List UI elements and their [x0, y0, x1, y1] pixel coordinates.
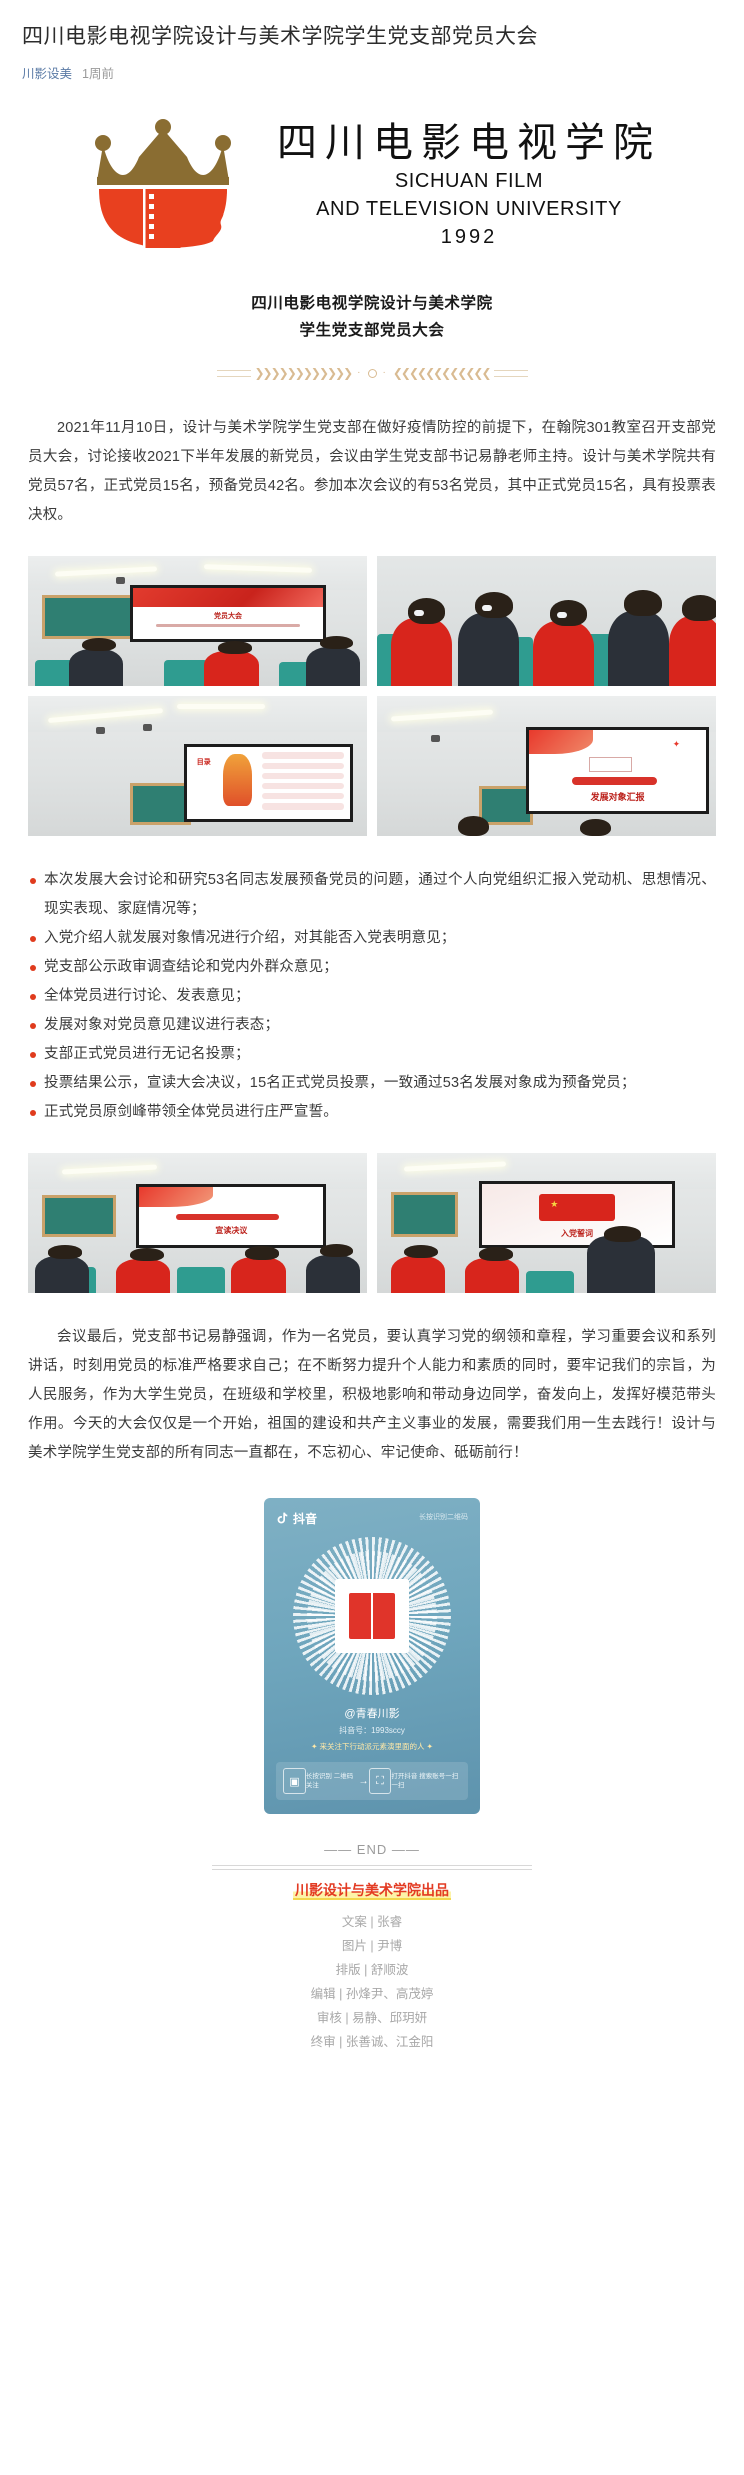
credits-block: 文案 | 张睿 图片 | 尹博 排版 | 舒顺波 编辑 | 孙烽尹、高茂婷 审核…	[0, 1910, 744, 2094]
qr-card-wrap: 抖音 长按识别二维码 @青春川影 抖音号：1993sccy ✦ 来关注下行动派元…	[0, 1498, 744, 1814]
page-title: 四川电影电视学院设计与美术学院学生党支部党员大会	[22, 22, 722, 52]
arrow-right-icon: →	[359, 1776, 369, 1787]
crown-shield-film-logo-icon	[83, 115, 243, 250]
photo-meeting-room-screen: 党员大会	[28, 556, 367, 686]
section-title-line2: 学生党支部党员大会	[0, 317, 744, 344]
logo-text-block: 四川电影电视学院 SICHUAN FILM AND TELEVISION UNI…	[277, 116, 661, 249]
article-meta: 川影设美1周前	[22, 65, 722, 83]
logo-founding-year: 1992	[277, 226, 661, 249]
credit-line: 文案 | 张睿	[0, 1910, 744, 1934]
qr-corner-note: 长按识别二维码	[419, 1512, 468, 1522]
qr-account-id: 抖音号：1993sccy	[276, 1725, 468, 1736]
section-title-line1: 四川电影电视学院设计与美术学院	[0, 290, 744, 317]
article-footer: —— END —— 川影设计与美术学院出品 文案 | 张睿 图片 | 尹博 排版…	[0, 1842, 744, 2094]
ornament-center-ring	[368, 369, 377, 378]
qr-foot-left-label: 长按识别 二维码关注	[306, 1772, 359, 1790]
logo-english-line1: SICHUAN FILM	[277, 168, 661, 194]
qr-decorative-ring	[293, 1537, 451, 1695]
qr-account-name: @青春川影	[276, 1705, 468, 1721]
article-page: 四川电影电视学院设计与美术学院学生党支部党员大会 川影设美1周前	[0, 0, 744, 2094]
ornament-left-dot: ·	[355, 368, 363, 378]
procedure-bullet-list: 本次发展大会讨论和研究53名同志发展预备党员的问题，通过个人向党组织汇报入党动机…	[0, 866, 744, 1127]
list-item: 发展对象对党员意见建议进行表态；	[28, 1011, 716, 1040]
ornament-right-line	[494, 370, 528, 377]
list-item: 正式党员原剑峰带领全体党员进行庄严宣誓。	[28, 1098, 716, 1127]
outfit-line: 川影设计与美术学院出品	[0, 1880, 744, 1900]
publish-time: 1周前	[82, 67, 114, 81]
intro-paragraph: 2021年11月10日，设计与美术学院学生党支部在做好疫情防控的前提下，在翰院3…	[28, 414, 716, 530]
photo-seated-attendees	[377, 556, 716, 686]
article-header: 四川电影电视学院设计与美术学院学生党支部党员大会 川影设美1周前	[0, 0, 744, 83]
credit-line: 排版 | 舒顺波	[0, 1958, 744, 1982]
end-mark: —— END ——	[0, 1842, 744, 1857]
closing-paragraph: 会议最后，党支部书记易静强调，作为一名党员，要认真学习党的纲领和章程，学习重要会…	[28, 1323, 716, 1468]
outfit-label: 川影设计与美术学院出品	[293, 1882, 451, 1900]
photo-grid-top: 党员大会	[0, 556, 744, 836]
footer-divider	[212, 1865, 532, 1870]
logo-chinese-name: 四川电影电视学院	[277, 120, 661, 166]
ornament-left-chevrons: ❯❯❯❯❯❯❯❯❯❯❯❯	[255, 367, 352, 379]
image-icon: ▣	[283, 1768, 306, 1794]
credit-line: 图片 | 尹博	[0, 1934, 744, 1958]
photo-grid-mid: 宣读决议 ★ 入党誓词	[0, 1153, 744, 1293]
scan-icon: ⛶	[369, 1768, 392, 1794]
qr-footer-bar: ▣ 长按识别 二维码关注 → ⛶ 打开抖音 搜索账号一扫一扫	[276, 1762, 468, 1800]
qr-foot-right-label: 打开抖音 搜索账号一扫一扫	[391, 1772, 461, 1790]
photo-classroom-projector-report: ✦ 发展对象汇报	[377, 696, 716, 836]
qr-slogan: ✦ 来关注下行动派元素演里面的人 ✦	[276, 1741, 468, 1752]
intro-section: 2021年11月10日，设计与美术学院学生党支部在做好疫情防控的前提下，在翰院3…	[0, 414, 744, 530]
credit-line: 审核 | 易静、邱玥妍	[0, 2006, 744, 2030]
douyin-qr-card[interactable]: 抖音 长按识别二维码 @青春川影 抖音号：1993sccy ✦ 来关注下行动派元…	[264, 1498, 480, 1814]
credit-line: 终审 | 张善诚、江金阳	[0, 2030, 744, 2054]
list-item: 投票结果公示，宣读大会决议，15名正式党员投票，一致通过53名发展对象成为预备党…	[28, 1069, 716, 1098]
qr-code-glyph	[349, 1593, 395, 1639]
section-title: 四川电影电视学院设计与美术学院 学生党支部党员大会	[0, 290, 744, 344]
list-item: 入党介绍人就发展对象情况进行介绍，对其能否入党表明意见；	[28, 924, 716, 953]
ornament-divider-icon: ❯❯❯❯❯❯❯❯❯❯❯❯ · · ❮❮❮❮❮❮❮❮❮❮❮❮	[212, 362, 532, 384]
ornament-left-line	[217, 370, 251, 377]
ornament-right-dot: ·	[381, 368, 389, 378]
photo-classroom-projector-agenda: 目录	[28, 696, 367, 836]
list-item: 支部正式党员进行无记名投票；	[28, 1040, 716, 1069]
list-item: 全体党员进行讨论、发表意见；	[28, 982, 716, 1011]
list-item: 党支部公示政审调查结论和党内外群众意见；	[28, 953, 716, 982]
university-logo-band: 四川电影电视学院 SICHUAN FILM AND TELEVISION UNI…	[0, 115, 744, 250]
account-name[interactable]: 川影设美	[22, 67, 72, 81]
ornament-right-chevrons: ❮❮❮❮❮❮❮❮❮❮❮❮	[393, 367, 490, 379]
photo-oath-ceremony: ★ 入党誓词	[377, 1153, 716, 1293]
logo-english-line2: AND TELEVISION UNIVERSITY	[277, 196, 661, 222]
list-item: 本次发展大会讨论和研究53名同志发展预备党员的问题，通过个人向党组织汇报入党动机…	[28, 866, 716, 924]
closing-section: 会议最后，党支部书记易静强调，作为一名党员，要认真学习党的纲领和章程，学习重要会…	[0, 1323, 744, 1468]
douyin-logo-icon	[276, 1512, 288, 1525]
douyin-brand-label: 抖音	[293, 1510, 317, 1527]
qr-code-image[interactable]	[335, 1579, 409, 1653]
photo-reading-resolution: 宣读决议	[28, 1153, 367, 1293]
credit-line: 编辑 | 孙烽尹、高茂婷	[0, 1982, 744, 2006]
